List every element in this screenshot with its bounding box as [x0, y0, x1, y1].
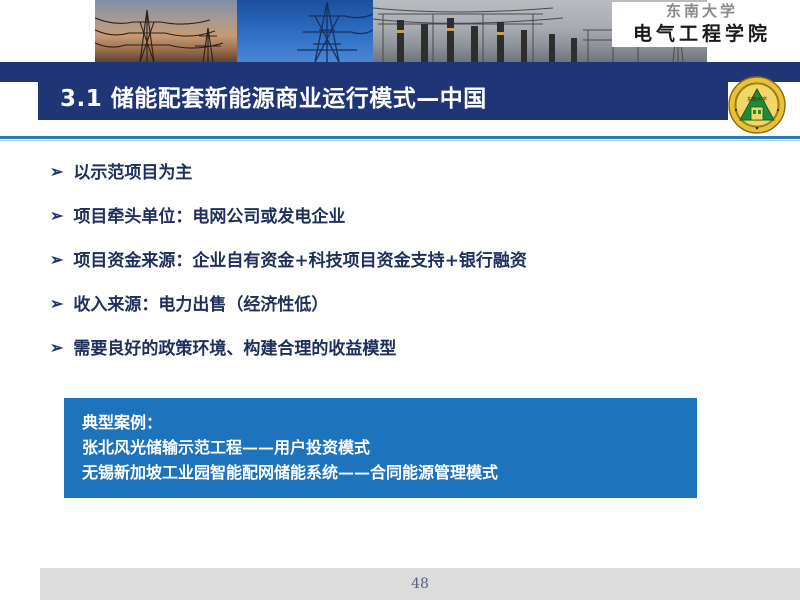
header-divider-rule-light	[0, 140, 800, 141]
arrow-bullet-icon: ➢	[50, 294, 63, 315]
university-seal-icon: 东南大学	[728, 76, 786, 134]
pylon-silhouette-icon	[95, 0, 237, 62]
transmission-tower-bluesky-photo	[237, 0, 373, 62]
arrow-bullet-icon: ➢	[50, 206, 63, 227]
list-item: ➢ 项目资金来源：企业自有资金+科技项目资金支持+银行融资	[50, 250, 750, 272]
slide-footer: 48	[40, 568, 800, 600]
school-name: 电气工程学院	[612, 22, 792, 48]
list-item-label: 收入来源：电力出售（经济性低）	[73, 294, 750, 316]
transmission-tower-sunset-photo	[95, 0, 237, 62]
case-study-heading: 典型案例：	[82, 411, 697, 436]
svg-text:东南大学: 东南大学	[747, 96, 767, 103]
list-item-label: 以示范项目为主	[73, 162, 750, 184]
arrow-bullet-icon: ➢	[50, 338, 63, 359]
case-study-line-1: 张北风光储输示范工程——用户投资模式	[82, 436, 697, 461]
page-title: 3.1 储能配套新能源商业运行模式—中国	[38, 79, 487, 113]
list-item: ➢ 以示范项目为主	[50, 162, 750, 184]
slide-title-bar: 3.1 储能配套新能源商业运行模式—中国	[38, 72, 728, 120]
list-item-label: 项目资金来源：企业自有资金+科技项目资金支持+银行融资	[73, 250, 750, 272]
pylon-silhouette-icon	[237, 0, 373, 62]
bullet-list: ➢ 以示范项目为主 ➢ 项目牵头单位：电网公司或发电企业 ➢ 项目资金来源：企业…	[50, 162, 750, 382]
list-item: ➢ 需要良好的政策环境、构建合理的收益模型	[50, 338, 750, 360]
list-item-label: 项目牵头单位：电网公司或发电企业	[73, 206, 750, 228]
list-item: ➢ 项目牵头单位：电网公司或发电企业	[50, 206, 750, 228]
institution-logo-block: 东南大学 电气工程学院	[612, 2, 792, 47]
slide-canvas: 东南大学 电气工程学院 3.1 储能配套新能源商业运行模式—中国 东南大学 ➢ …	[0, 0, 800, 600]
case-study-callout-box: 典型案例： 张北风光储输示范工程——用户投资模式 无锡新加坡工业园智能配网储能系…	[64, 398, 697, 498]
arrow-bullet-icon: ➢	[50, 250, 63, 271]
page-number: 48	[411, 576, 429, 592]
university-name: 东南大学	[612, 2, 792, 22]
case-study-line-2: 无锡新加坡工业园智能配网储能系统——合同能源管理模式	[82, 461, 697, 486]
list-item-label: 需要良好的政策环境、构建合理的收益模型	[73, 338, 750, 360]
arrow-bullet-icon: ➢	[50, 162, 63, 183]
list-item: ➢ 收入来源：电力出售（经济性低）	[50, 294, 750, 316]
header-divider-rule	[0, 136, 800, 139]
